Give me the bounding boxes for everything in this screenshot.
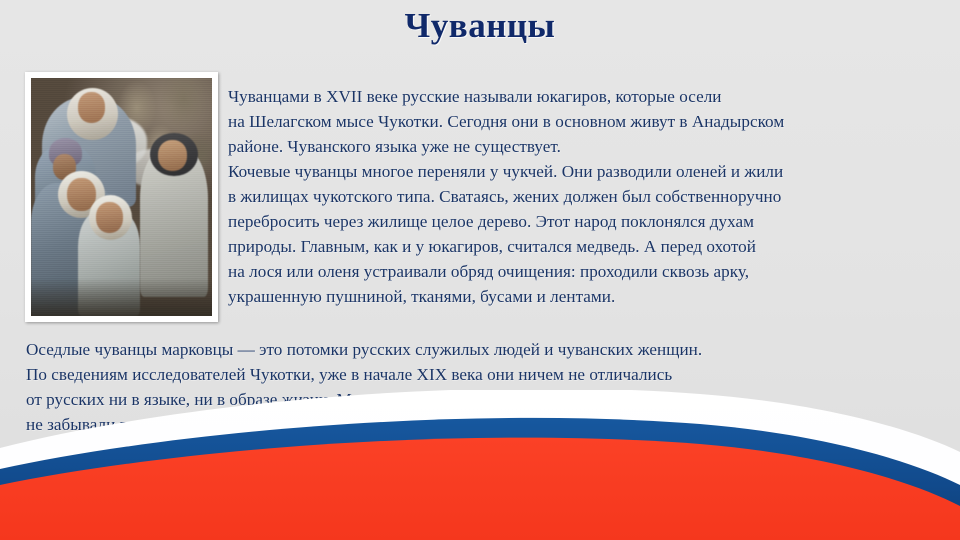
- chuvan-people-photo: [31, 78, 212, 316]
- text-line: природы. Главным, как и у юкагиров, счит…: [228, 234, 946, 259]
- flag-wave-svg: [0, 390, 960, 540]
- flag-wave-decoration: [0, 390, 960, 540]
- slide-canvas: Чуванцы Чуванцам: [0, 0, 960, 540]
- photo-frame: [25, 72, 218, 322]
- text-line: Кочевые чуванцы многое переняли у чукчей…: [228, 159, 946, 184]
- page-title: Чуванцы: [0, 6, 960, 46]
- photo-ground-shadow: [31, 278, 212, 316]
- text-line: на Шелагском мысе Чукотки. Сегодня они в…: [228, 109, 946, 134]
- photo-figure-right-face: [158, 140, 187, 171]
- text-line: на лося или оленя устраивали обряд очище…: [228, 259, 946, 284]
- text-line: перебросить через жилище целое дерево. Э…: [228, 209, 946, 234]
- photo-figure-child-front-face: [96, 202, 123, 233]
- text-line: По сведениям исследователей Чукотки, уже…: [26, 362, 946, 387]
- text-line: Оседлые чуванцы марковцы — это потомки р…: [26, 337, 946, 362]
- text-line: районе. Чуванского языка уже не существу…: [228, 134, 946, 159]
- text-line: украшенную пушниной, тканями, бусами и л…: [228, 284, 946, 309]
- photo-figure-woman-face: [78, 92, 105, 123]
- text-line: в жилищах чукотского типа. Сватаясь, жен…: [228, 184, 946, 209]
- text-line: Чуванцами в XVII веке русские называли ю…: [228, 84, 946, 109]
- paragraph-nomadic-chuvans: Чуванцами в XVII веке русские называли ю…: [228, 84, 946, 309]
